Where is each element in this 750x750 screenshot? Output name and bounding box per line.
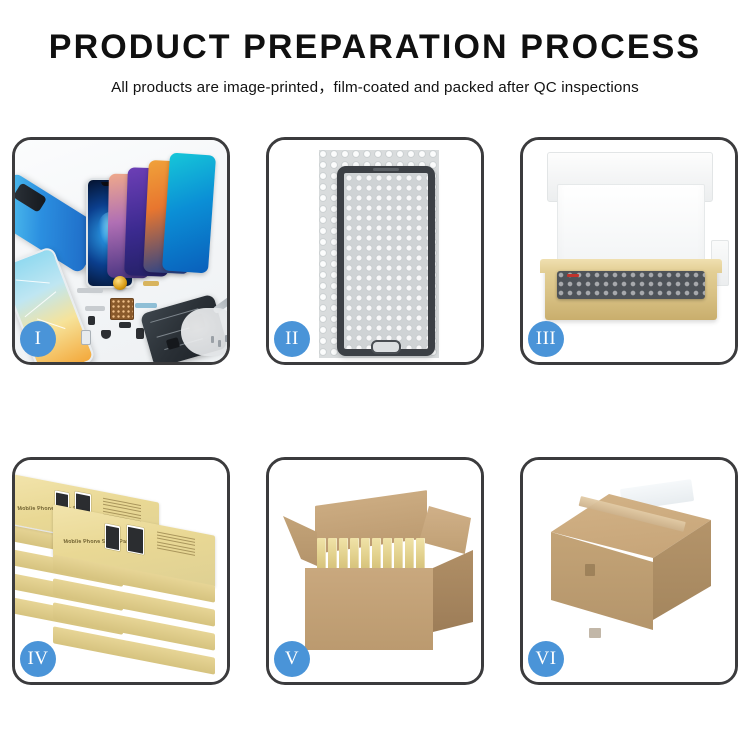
printed-screen-icon: [127, 525, 144, 555]
step-badge-1: I: [20, 321, 56, 357]
bubble-wrap-icon: [319, 150, 439, 358]
home-button-icon: [371, 340, 401, 354]
wrapped-screen-icon: [337, 166, 435, 356]
step-badge-5: V: [274, 641, 310, 677]
battery-icon: [136, 328, 144, 339]
screw-icon: [211, 336, 214, 343]
step-badge-6: VI: [528, 641, 564, 677]
header: PRODUCT PREPARATION PROCESS All products…: [0, 0, 750, 97]
step-badge-4: IV: [20, 641, 56, 677]
process-steps-grid: I II: [12, 137, 738, 685]
flex-cable-icon: [85, 306, 105, 311]
crack-line-icon: [25, 291, 57, 317]
flex-cable-icon: [77, 288, 103, 293]
screw-icon: [218, 340, 221, 347]
step-panel-2: II: [266, 137, 484, 365]
component-icon: [88, 316, 95, 325]
step-panel-1: I: [12, 137, 230, 365]
page-title: PRODUCT PREPARATION PROCESS: [0, 30, 750, 66]
chip-icon: [166, 337, 180, 350]
teal-phone-icon: [162, 153, 216, 274]
kraft-tray-icon: [545, 265, 717, 320]
carton-front-panel-icon: [305, 568, 433, 650]
printed-screen-icon: [105, 523, 120, 551]
component-icon: [119, 322, 131, 328]
step-panel-4: Mobile Phone Spare Parts Mobile Phone Sp…: [12, 457, 230, 685]
step-badge-2: II: [274, 321, 310, 357]
blue-flex-icon: [135, 303, 157, 308]
sim-tray-icon: [81, 330, 91, 345]
screw-icon: [225, 335, 227, 342]
speaker-coil-icon: [113, 276, 127, 290]
earpiece-icon: [373, 168, 399, 171]
carton-notch-icon: [585, 564, 595, 576]
step-panel-6: VI: [520, 457, 738, 685]
crack-line-icon: [16, 280, 50, 284]
product-preparation-infographic: PRODUCT PREPARATION PROCESS All products…: [0, 0, 750, 750]
box-label-text: Mobile Phone Spare Parts: [63, 539, 134, 545]
step-badge-3: III: [528, 321, 564, 357]
hand-icon: [181, 308, 227, 356]
spec-lines-icon: [157, 531, 195, 560]
gold-flex-icon: [143, 281, 159, 286]
page-subtitle: All products are image-printed，film-coat…: [0, 75, 750, 97]
carton-notch-icon: [589, 628, 601, 638]
red-label-icon: [567, 274, 579, 277]
wrapped-screen-icon: [557, 271, 705, 299]
step-panel-3: III: [520, 137, 738, 365]
connector-grid-icon: [110, 298, 134, 320]
step-panel-5: V: [266, 457, 484, 685]
